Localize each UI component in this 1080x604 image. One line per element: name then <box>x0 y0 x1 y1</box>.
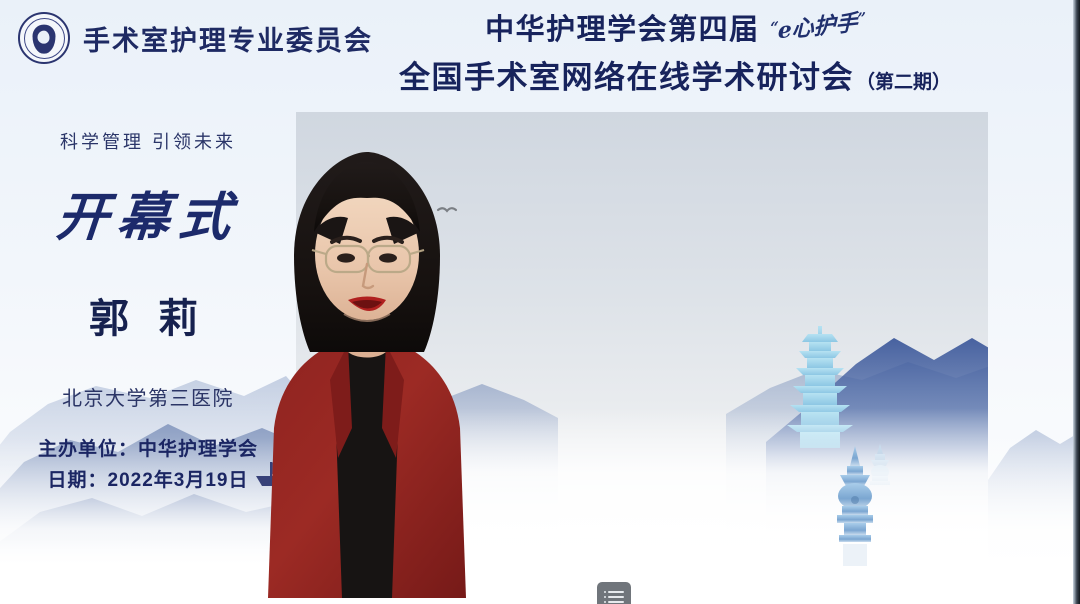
slide-bottom-fade <box>0 538 1080 604</box>
presenter-video-figure <box>252 128 482 598</box>
nursing-committee-emblem-icon <box>18 12 70 64</box>
screen-right-bezel <box>1073 0 1080 604</box>
playlist-list-icon-button[interactable] <box>597 582 631 604</box>
brand-calligraphy-mark: “e心护手” <box>770 11 865 43</box>
conference-title-block: 中华护理学会第四届 “e心护手” 全国手术室网络在线学术研讨会 （第二期） <box>335 12 1015 97</box>
conference-title-line2: 全国手术室网络在线学术研讨会 <box>399 52 854 97</box>
brand-close-quote: ” <box>857 9 865 28</box>
organization-name: 手术室护理专业委员会 <box>83 19 373 58</box>
presentation-screen: 手术室护理专业委员会 中华护理学会第四届 “e心护手” 全国手术室网络在线学术研… <box>0 0 1080 604</box>
brand-open-quote: “ <box>770 18 778 37</box>
brand-mark-text: e心护手 <box>777 10 857 45</box>
playlist-list-icon <box>604 591 624 603</box>
organization-logo-group: 手术室护理专业委员会 <box>18 12 373 64</box>
foreground-stupa-decoration <box>820 440 890 570</box>
conference-title-line1: 中华护理学会第四届 <box>485 12 760 48</box>
conference-session-label: （第二期） <box>856 67 951 94</box>
slide-header: 手术室护理专业委员会 中华护理学会第四届 “e心护手” 全国手术室网络在线学术研… <box>0 0 1080 112</box>
